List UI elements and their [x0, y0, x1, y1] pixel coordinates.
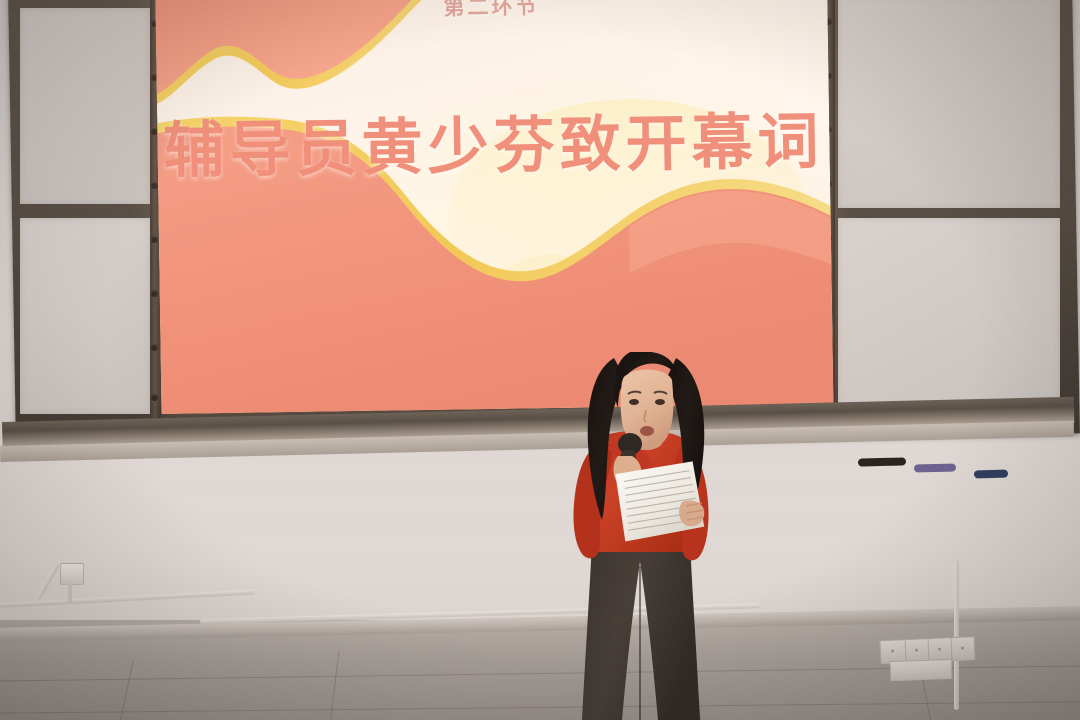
board-eraser[interactable] — [858, 457, 906, 466]
light-switch[interactable] — [951, 636, 976, 661]
whiteboard-marker[interactable] — [974, 470, 1008, 479]
blackboard-assembly: 第二环节 辅导员黄少芬致开幕词 — [0, 0, 1080, 470]
whiteboard-panel-right-top — [838, 0, 1060, 208]
whiteboard-panel-left-top — [20, 8, 150, 204]
wall-outlet[interactable] — [60, 563, 84, 585]
speaker-person — [556, 352, 776, 720]
wall-junction-box — [890, 659, 953, 681]
whiteboard-panel-right-bottom — [838, 218, 1060, 424]
classroom-photo: 第二环节 辅导员黄少芬致开幕词 — [0, 0, 1080, 720]
floor-grout-line — [0, 701, 1080, 713]
whiteboard-panel-left-bottom — [20, 218, 150, 414]
whiteboard-marker[interactable] — [914, 463, 956, 472]
light-switch-cluster[interactable] — [880, 636, 981, 662]
slide-title: 辅导员黄少芬致开幕词 — [157, 91, 830, 190]
